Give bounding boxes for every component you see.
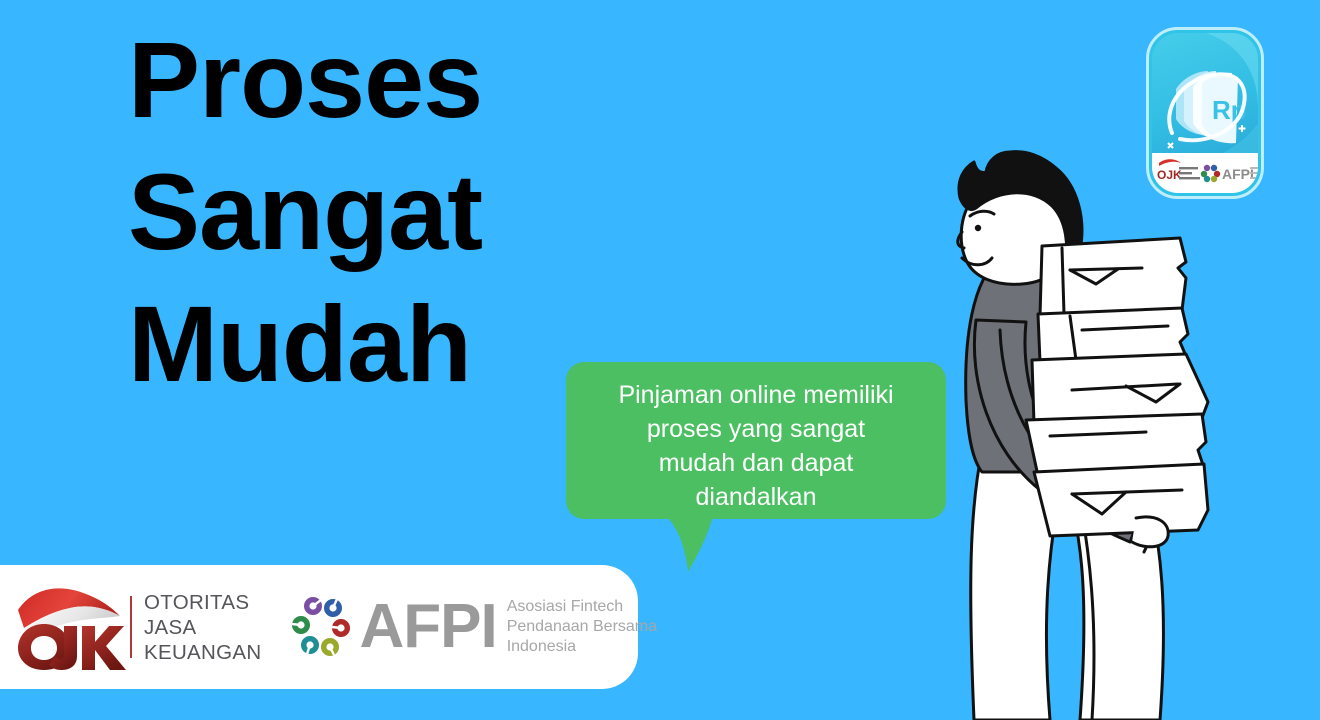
rp-app-icon[interactable]: Rp OJK bbox=[1146, 27, 1264, 199]
ojk-logo: OTORITAS JASA KEUANGAN bbox=[14, 584, 261, 670]
afpi-logo: AFPI Asosiasi Fintech Pendanaan Bersama … bbox=[285, 591, 657, 663]
afpi-tagline-2: Pendanaan Bersama bbox=[507, 617, 657, 637]
bubble-line-1: Pinjaman online memiliki bbox=[590, 378, 922, 412]
paper-1-fold bbox=[1062, 248, 1064, 314]
speech-bubble-text: Pinjaman online memiliki proses yang san… bbox=[590, 378, 922, 514]
headline-line-2: Sangat bbox=[128, 146, 688, 278]
petal-teal bbox=[300, 635, 320, 655]
man-carrying-paper-stack-illustration bbox=[930, 150, 1250, 720]
ojk-word-3: KEUANGAN bbox=[144, 640, 261, 665]
promo-slide: Proses Sangat Mudah bbox=[0, 0, 1320, 720]
speech-bubble-body: Pinjaman online memiliki proses yang san… bbox=[566, 362, 946, 519]
regulator-logo-bar: OTORITAS JASA KEUANGAN bbox=[0, 565, 638, 689]
afpi-tagline-3: Indonesia bbox=[507, 637, 657, 657]
icon-mini-afpi-label: AFPI bbox=[1222, 166, 1254, 182]
afpi-tagline-1: Asosiasi Fintech bbox=[507, 597, 657, 617]
speech-bubble-tail bbox=[664, 510, 716, 582]
petal-red bbox=[331, 618, 351, 638]
icon-mini-ojk-label: OJK bbox=[1157, 168, 1182, 182]
page-title: Proses Sangat Mudah bbox=[128, 14, 688, 409]
afpi-flower-icon bbox=[285, 591, 357, 663]
ojk-mark-icon bbox=[14, 584, 126, 670]
headline-line-1: Proses bbox=[128, 14, 688, 146]
bubble-line-2: proses yang sangat bbox=[590, 412, 922, 446]
petal-purple bbox=[303, 596, 323, 616]
eye bbox=[975, 225, 981, 231]
ojk-word-1: OTORITAS bbox=[144, 590, 261, 615]
ojk-divider bbox=[130, 596, 132, 658]
petal-green bbox=[291, 615, 311, 635]
hand bbox=[1132, 517, 1168, 547]
afpi-wordmark: AFPI bbox=[359, 596, 496, 658]
bubble-line-4: diandalkan bbox=[590, 480, 922, 514]
petal-blue bbox=[323, 598, 343, 618]
afpi-tagline: Asosiasi Fintech Pendanaan Bersama Indon… bbox=[507, 597, 657, 657]
ojk-word-2: JASA bbox=[144, 615, 261, 640]
petal-olive bbox=[320, 637, 340, 657]
ojk-letters bbox=[18, 624, 126, 670]
paper-sheet-5 bbox=[1034, 464, 1208, 536]
paper-1-line bbox=[1070, 268, 1142, 270]
ojk-wordmark: OTORITAS JASA KEUANGAN bbox=[144, 590, 261, 665]
speech-bubble: Pinjaman online memiliki proses yang san… bbox=[566, 362, 946, 582]
bubble-line-3: mudah dan dapat bbox=[590, 446, 922, 480]
